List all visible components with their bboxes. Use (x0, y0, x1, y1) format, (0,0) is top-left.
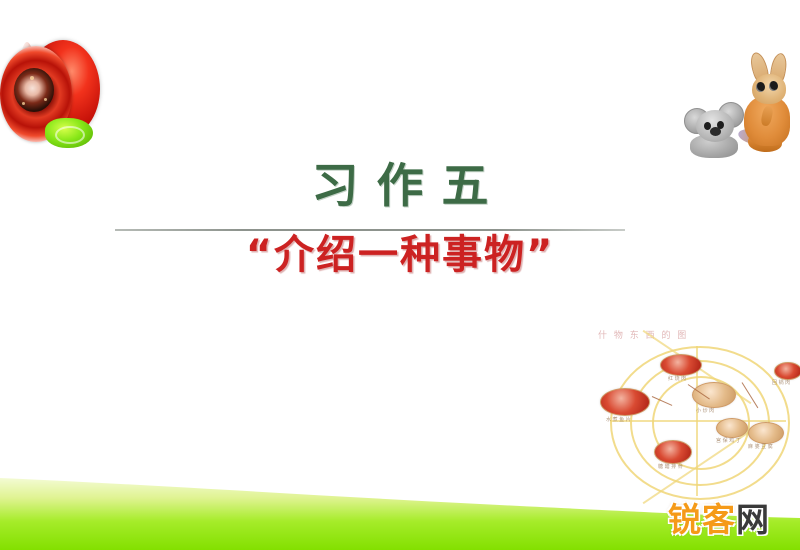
food-diagram-dish (660, 354, 702, 376)
yoyo-speck (30, 76, 34, 80)
kangaroo-icon (738, 52, 800, 160)
title-divider (115, 229, 625, 231)
yoyo-core (14, 68, 54, 112)
koala-nose (710, 127, 721, 136)
food-diagram-label: 红 烧 肉 (668, 375, 686, 382)
food-diagram-dish (748, 422, 784, 444)
food-diagram-dish (774, 362, 800, 380)
watermark: 锐客网 (668, 500, 770, 540)
food-diagram-label: 麻 婆 豆 腐 (748, 443, 773, 450)
koala-head (696, 110, 734, 142)
yoyo-speck (22, 102, 25, 105)
koala-icon (684, 100, 746, 158)
yoyo-string (45, 118, 93, 148)
kangaroo-eye-right (769, 81, 778, 91)
yoyo-icon (0, 36, 102, 148)
page-title: 习作五 (0, 160, 800, 214)
food-diagram-label: 宫 保 鸡 丁 (716, 437, 741, 444)
food-diagram-label: 水 煮 鱼 片 (606, 416, 631, 423)
food-diagram-dish (692, 382, 736, 408)
title-block: 习作五 “介绍一种事物” (0, 160, 800, 278)
yoyo-speck (44, 98, 47, 101)
kangaroo-eye-left (756, 82, 765, 92)
food-diagram-dish (716, 418, 748, 438)
food-diagram-label: 小 炒 肉 (696, 407, 714, 414)
presentation-slide: 习作五 “介绍一种事物” 什 物 东 西 的 图 红 烧 肉 水 煮 鱼 片 小… (0, 0, 800, 550)
page-subtitle: “介绍一种事物” (0, 232, 800, 278)
watermark-text-primary: 锐客 (668, 500, 736, 539)
food-diagram-label: 回 锅 肉 (772, 379, 790, 386)
watermark-text-secondary: 网 (736, 500, 770, 539)
food-diagram-dish (600, 388, 650, 416)
